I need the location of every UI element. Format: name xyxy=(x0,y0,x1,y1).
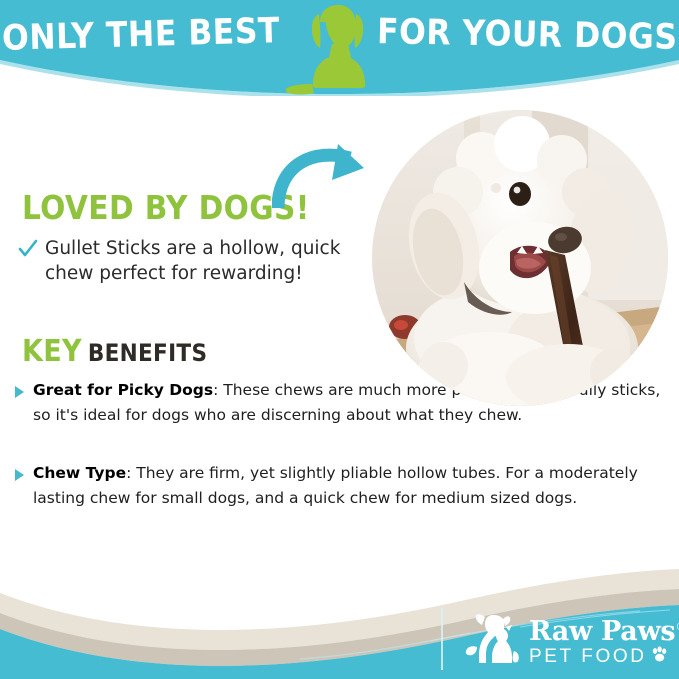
footer-divider xyxy=(441,608,443,670)
registered-mark: ® xyxy=(675,620,679,633)
key-benefits-heading: KEYBENEFITS xyxy=(22,334,207,369)
header-banner: ONLY THE BEST FOR YOUR DOGS xyxy=(0,0,679,96)
logo-tagline: PET FOOD xyxy=(529,646,647,668)
infographic-page: ONLY THE BEST FOR YOUR DOGS xyxy=(0,0,679,679)
product-photo xyxy=(372,110,668,406)
logo-name: Raw Paws xyxy=(529,616,675,647)
raw-paws-logo[interactable]: Raw Paws® PET FOOD xyxy=(463,606,668,672)
benefit-item: Chew Type: They are firm, yet slightly p… xyxy=(14,461,664,510)
curved-arrow-icon xyxy=(272,142,392,212)
dog-and-cat-silhouette-icon xyxy=(463,607,525,672)
logo-tagline-line: PET FOOD xyxy=(529,646,679,668)
key-benefits-rest: BENEFITS xyxy=(88,339,208,367)
loved-by-dogs-heading: LOVED BY DOGS! xyxy=(22,188,310,227)
benefit-text: Chew Type: They are firm, yet slightly p… xyxy=(33,461,664,510)
benefit-label: Great for Picky Dogs xyxy=(33,381,213,399)
logo-name-line: Raw Paws® xyxy=(529,613,679,646)
benefit-label: Chew Type xyxy=(33,464,126,482)
benefit-separator: : xyxy=(213,381,223,399)
loved-by-dogs-point: Gullet Sticks are a hollow, quick chew p… xyxy=(18,236,358,286)
triangle-right-icon xyxy=(14,385,25,403)
benefit-separator: : xyxy=(126,464,136,482)
logo-wordmark: Raw Paws® PET FOOD xyxy=(529,613,679,668)
header-title-right: FOR YOUR DOGS xyxy=(376,12,677,58)
header-title-left: ONLY THE BEST xyxy=(1,11,280,59)
paw-print-icon xyxy=(651,646,668,668)
check-icon xyxy=(18,239,38,264)
key-benefits-accent: KEY xyxy=(22,334,82,369)
triangle-right-icon xyxy=(14,468,25,486)
header-title: ONLY THE BEST FOR YOUR DOGS xyxy=(0,14,679,55)
loved-by-dogs-text: Gullet Sticks are a hollow, quick chew p… xyxy=(45,236,358,286)
dog-chewing-photo-illustration xyxy=(372,110,668,406)
